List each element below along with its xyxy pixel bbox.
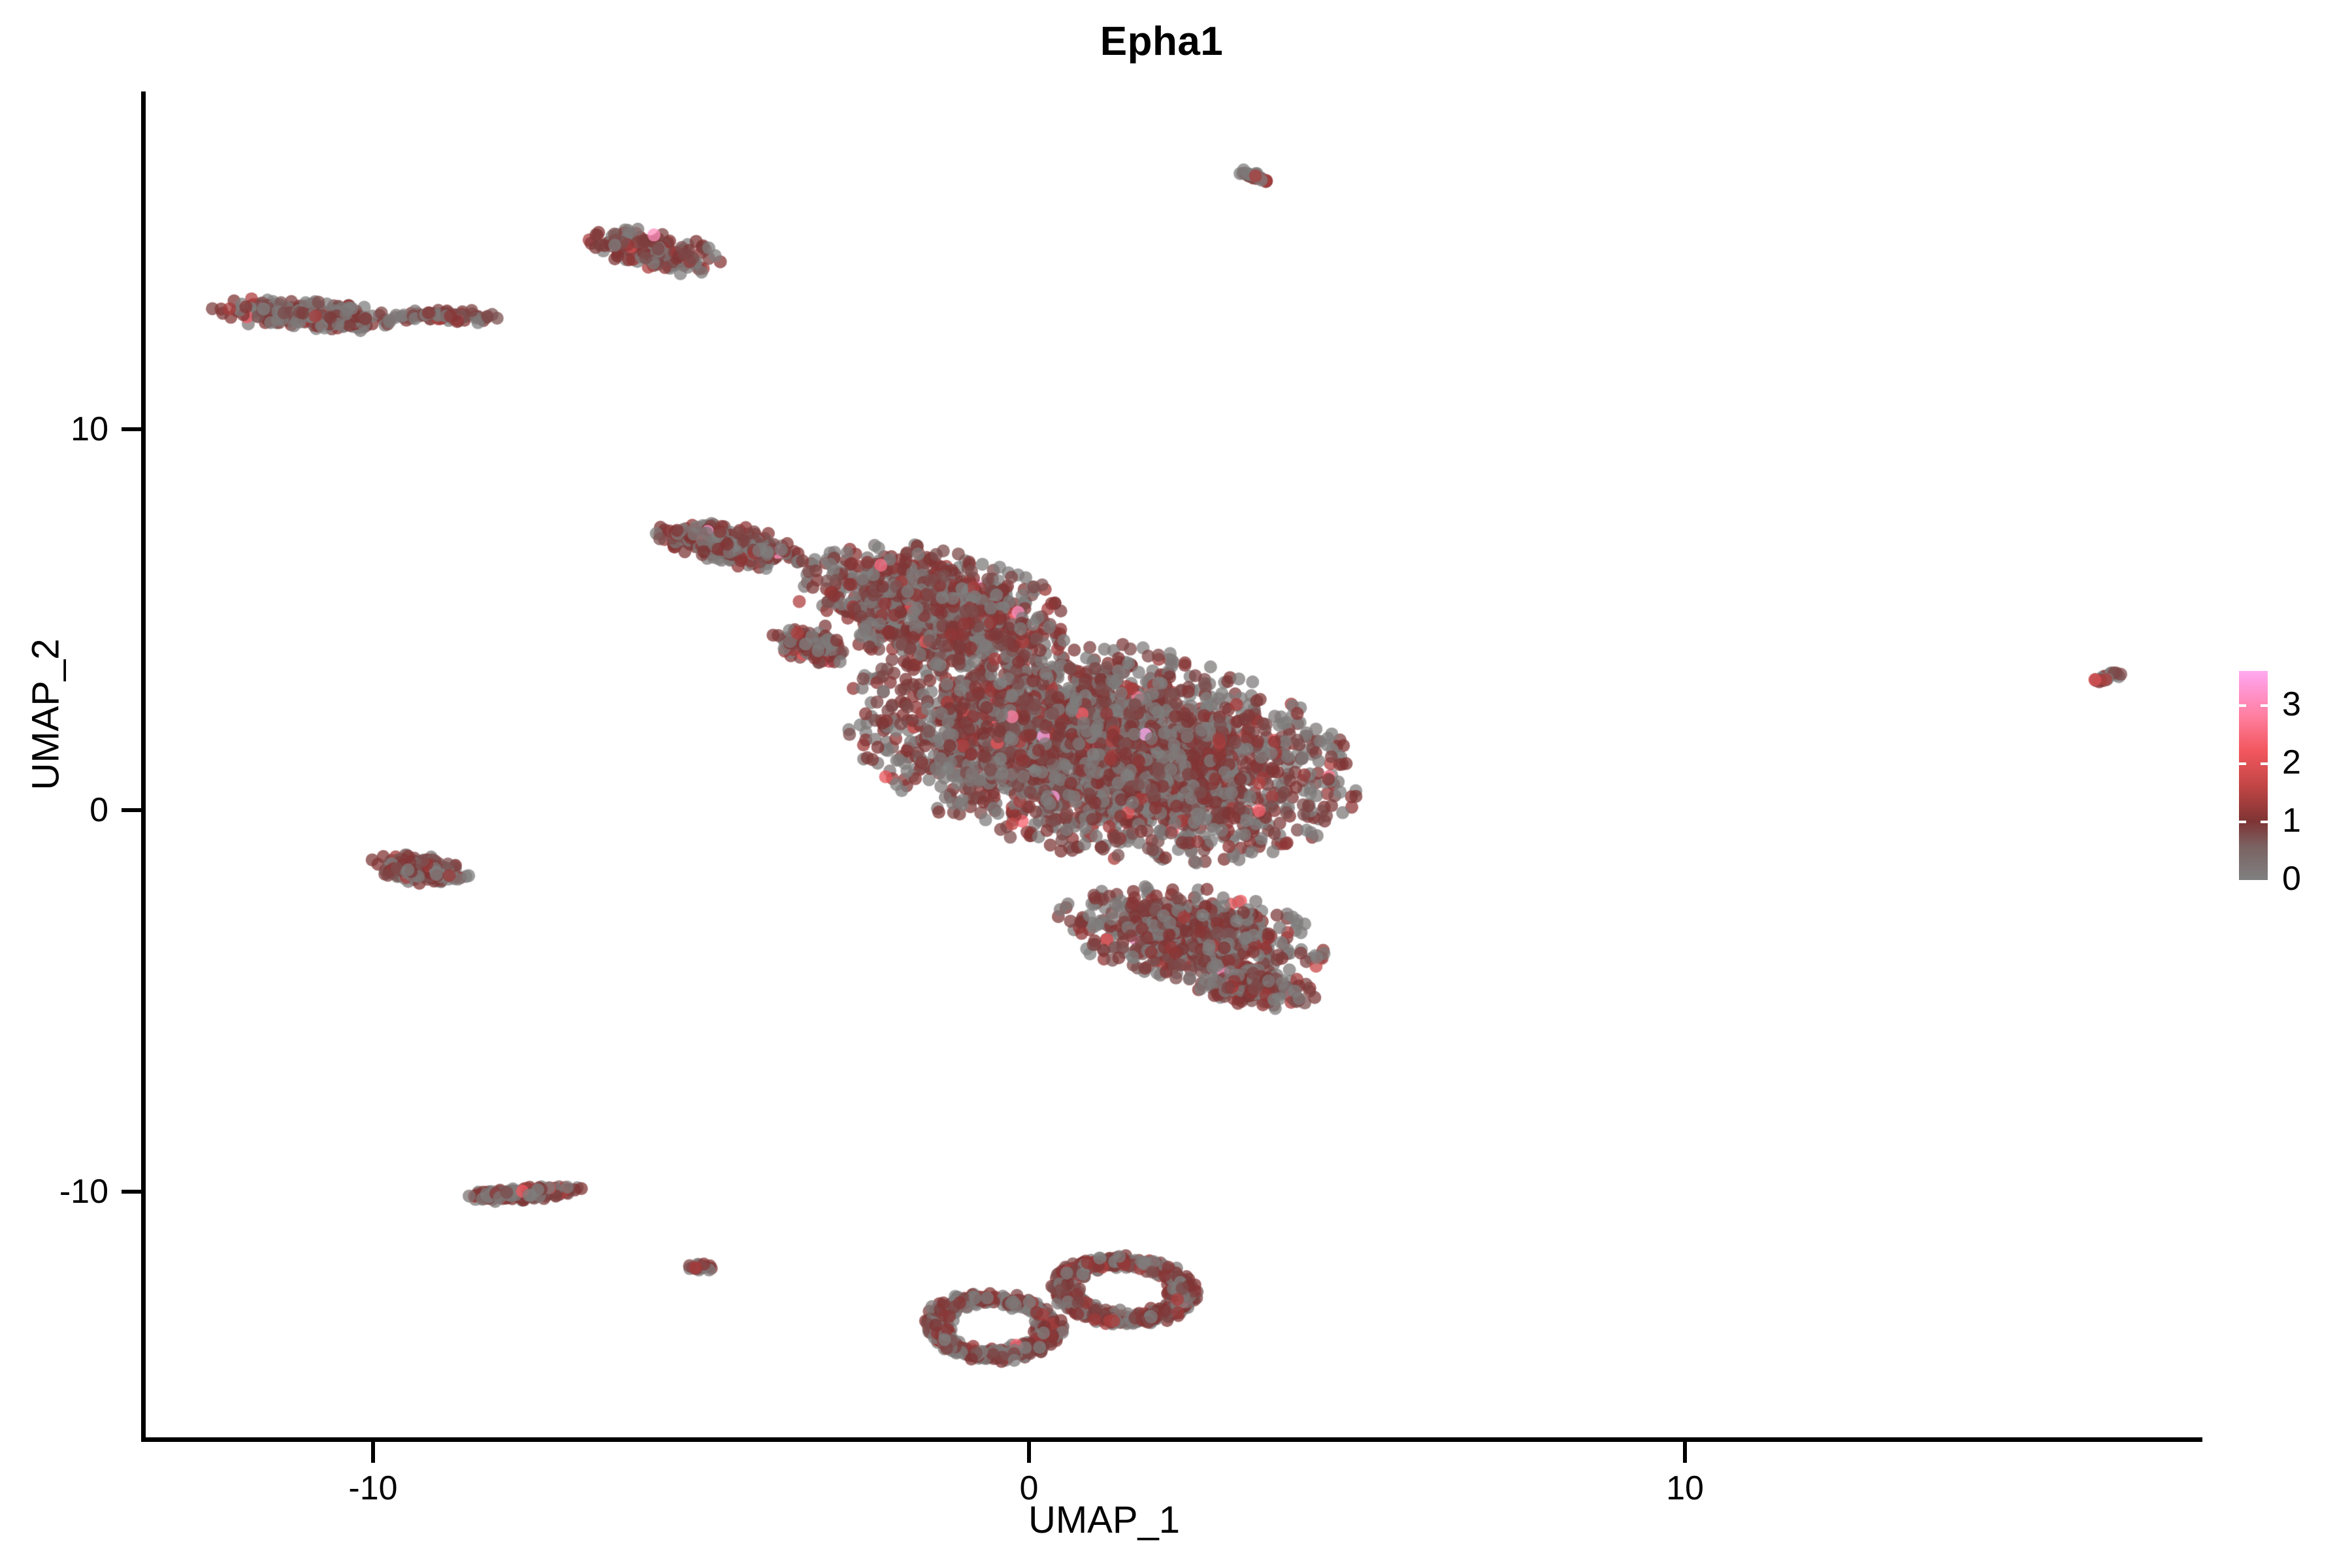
legend-tick-mark [2261, 821, 2268, 823]
x-tick-mark [371, 1442, 375, 1463]
x-axis-line [141, 1437, 2202, 1442]
legend-tick-mark [2239, 821, 2246, 823]
legend-tick-label: 1 [2282, 804, 2301, 838]
y-tick-label: 10 [71, 410, 108, 449]
plot-panel [144, 91, 2202, 1439]
x-tick-mark [1683, 1442, 1687, 1463]
x-axis-title: UMAP_1 [0, 1498, 2208, 1542]
y-tick-mark [122, 427, 142, 431]
page-title: Epha1 [0, 18, 2338, 65]
legend-tick-mark [2239, 704, 2246, 707]
color-legend: 3210 [2239, 671, 2352, 887]
legend-tick-mark [2261, 762, 2268, 765]
legend-tick-mark [2261, 704, 2268, 707]
legend-tick-label: 2 [2282, 745, 2301, 779]
y-axis-title: UMAP_2 [24, 519, 68, 911]
y-tick-label: 0 [90, 791, 108, 830]
umap-feature-plot: Epha1 100-10 -10010 UMAP_1 UMAP_2 3210 [0, 0, 2352, 1568]
legend-colorbar [2239, 671, 2268, 880]
legend-tick-label: 0 [2282, 862, 2301, 896]
y-axis-line [141, 91, 146, 1442]
y-tick-label: -10 [59, 1172, 108, 1211]
scatter-points-layer [144, 91, 2202, 1439]
legend-tick-label: 3 [2282, 687, 2301, 721]
x-tick-mark [1027, 1442, 1031, 1463]
y-tick-mark [122, 808, 142, 812]
y-tick-mark [122, 1190, 142, 1194]
legend-tick-mark [2239, 762, 2246, 765]
